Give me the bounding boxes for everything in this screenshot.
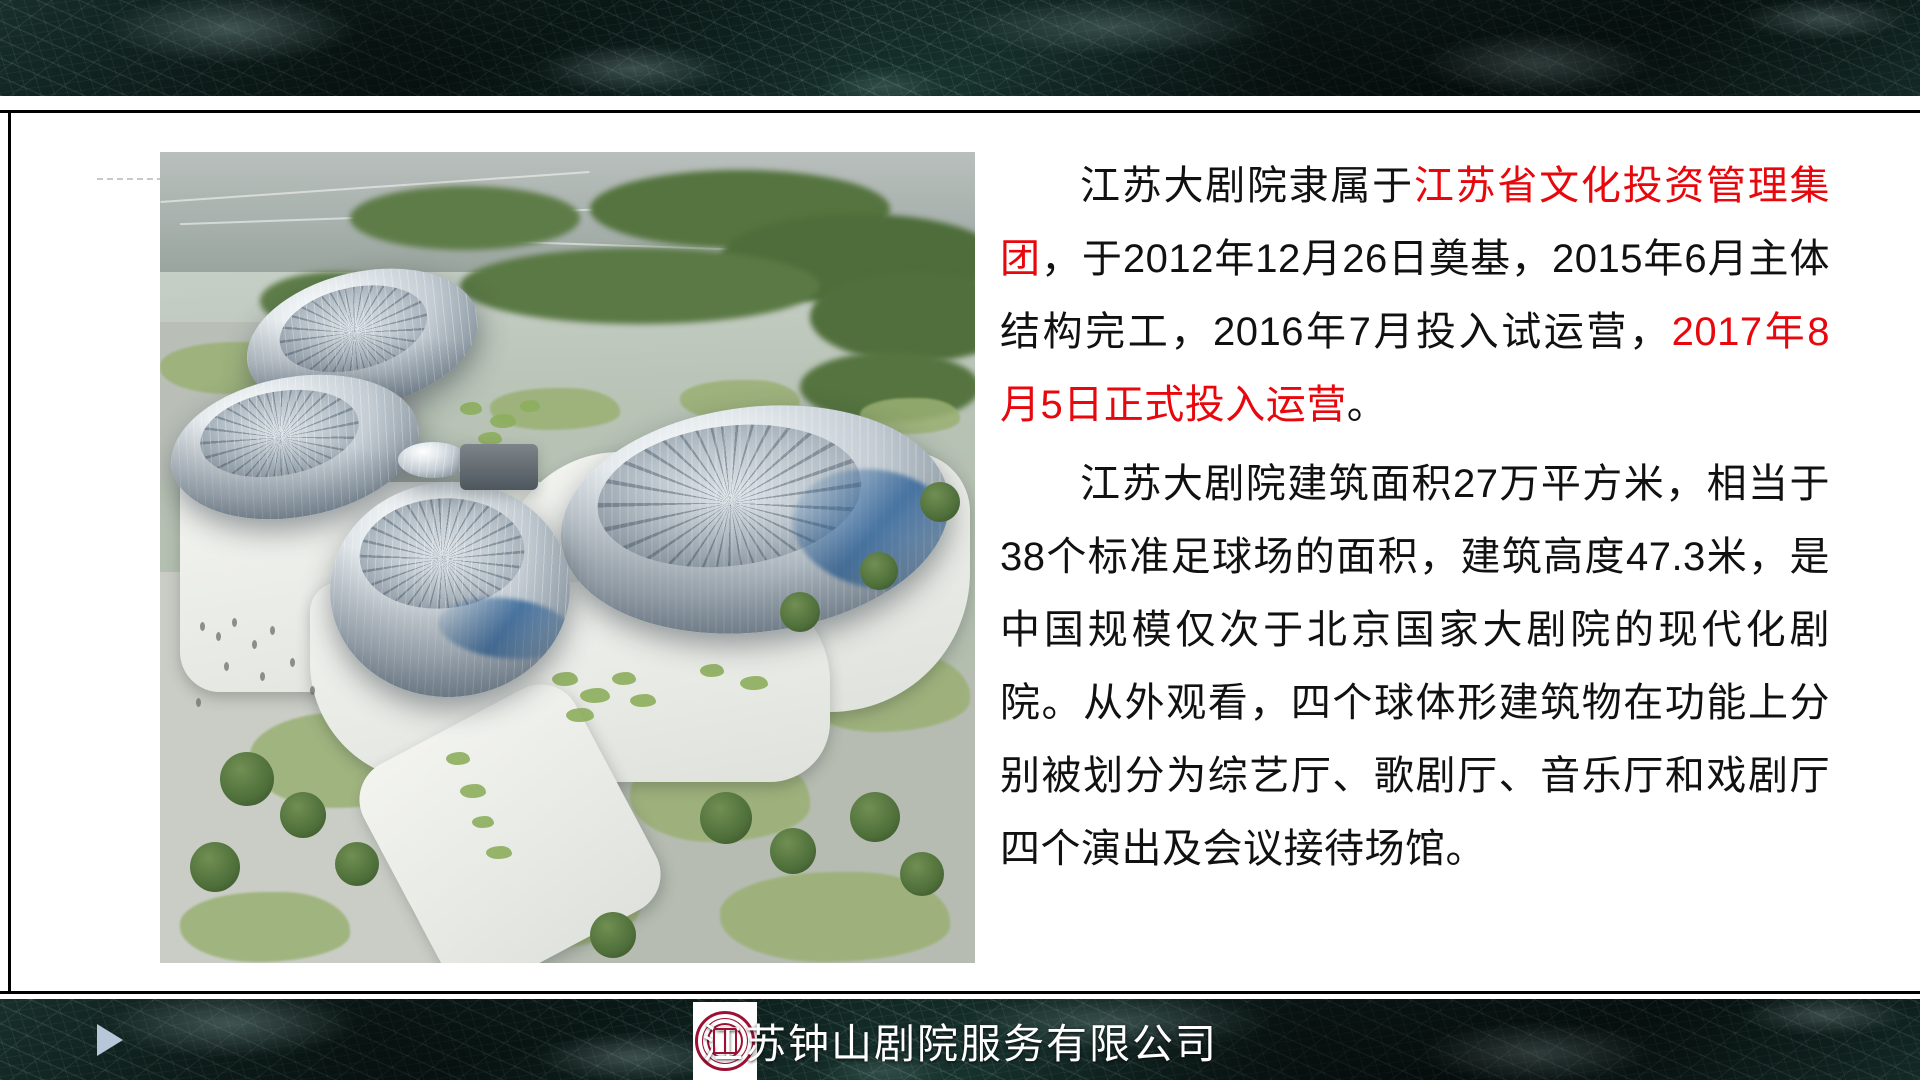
- leaf-motif: [520, 400, 540, 412]
- crowd-figure: [252, 640, 257, 649]
- marble-header-band: [0, 0, 1920, 96]
- leaf-motif: [566, 708, 594, 722]
- body-text-column: 江苏大剧院隶属于江苏省文化投资管理集团，于2012年12月26日奠基，2015年…: [1000, 150, 1830, 886]
- tree: [280, 792, 326, 838]
- crowd-figure: [224, 662, 229, 671]
- paragraph-1: 江苏大剧院隶属于江苏省文化投资管理集团，于2012年12月26日奠基，2015年…: [1000, 150, 1830, 442]
- theatre-photo: [160, 152, 975, 963]
- run-2-1: 江苏大剧院建筑面积27万平方米，相当于38个标准足球场的面积，建筑高度47.3米…: [1000, 462, 1830, 871]
- theatre-core-block: [460, 444, 538, 490]
- seal-emblem-icon: [713, 1028, 737, 1054]
- seal-ring-icon: [695, 1011, 755, 1071]
- leaf-motif: [630, 694, 656, 707]
- leaf-motif: [700, 664, 724, 677]
- crowd-figure: [216, 632, 221, 641]
- leaf-motif: [486, 846, 512, 859]
- tree: [860, 552, 898, 590]
- photo-lawn: [180, 892, 350, 962]
- leaf-motif: [460, 402, 482, 415]
- tree-mass: [460, 248, 820, 324]
- tree: [780, 592, 820, 632]
- tree: [850, 792, 900, 842]
- tree-mass: [350, 186, 580, 250]
- crowd-figure: [310, 686, 315, 695]
- company-logo: [693, 1002, 757, 1080]
- tree: [770, 828, 816, 874]
- tree: [700, 792, 752, 844]
- crowd-figure: [232, 618, 237, 627]
- slide-root: 江苏大剧院隶属于江苏省文化投资管理集团，于2012年12月26日奠基，2015年…: [0, 0, 1920, 1080]
- crowd-figure: [290, 658, 295, 667]
- marble-footer-band: [0, 999, 1920, 1080]
- theatre-photo-canvas: [160, 152, 975, 963]
- paragraph-2: 江苏大剧院建筑面积27万平方米，相当于38个标准足球场的面积，建筑高度47.3米…: [1000, 448, 1830, 886]
- tree: [920, 482, 960, 522]
- tree: [335, 842, 379, 886]
- sphere-ribs: [398, 442, 468, 478]
- crowd-figure: [196, 698, 201, 707]
- leaf-motif: [460, 784, 486, 798]
- crowd-figure: [270, 626, 275, 635]
- leaf-motif: [612, 672, 636, 685]
- crowd-figure: [200, 622, 205, 631]
- leaf-motif: [446, 752, 470, 765]
- leaf-motif: [580, 688, 610, 703]
- leaf-motif: [490, 414, 516, 428]
- run-1-1: 江苏大剧院隶属于: [1080, 164, 1414, 208]
- run-1-5: 。: [1347, 383, 1388, 427]
- play-triangle-icon[interactable]: [97, 1024, 123, 1056]
- leaf-motif: [472, 816, 494, 828]
- crowd-figure: [260, 672, 265, 681]
- tree: [190, 842, 240, 892]
- tree: [590, 912, 636, 958]
- tree: [220, 752, 274, 806]
- leaf-motif: [552, 672, 578, 686]
- leaf-motif: [740, 676, 768, 690]
- tree: [900, 852, 944, 896]
- theatre-central-drum: [398, 442, 468, 478]
- bottom-divider-rule: [0, 991, 1920, 994]
